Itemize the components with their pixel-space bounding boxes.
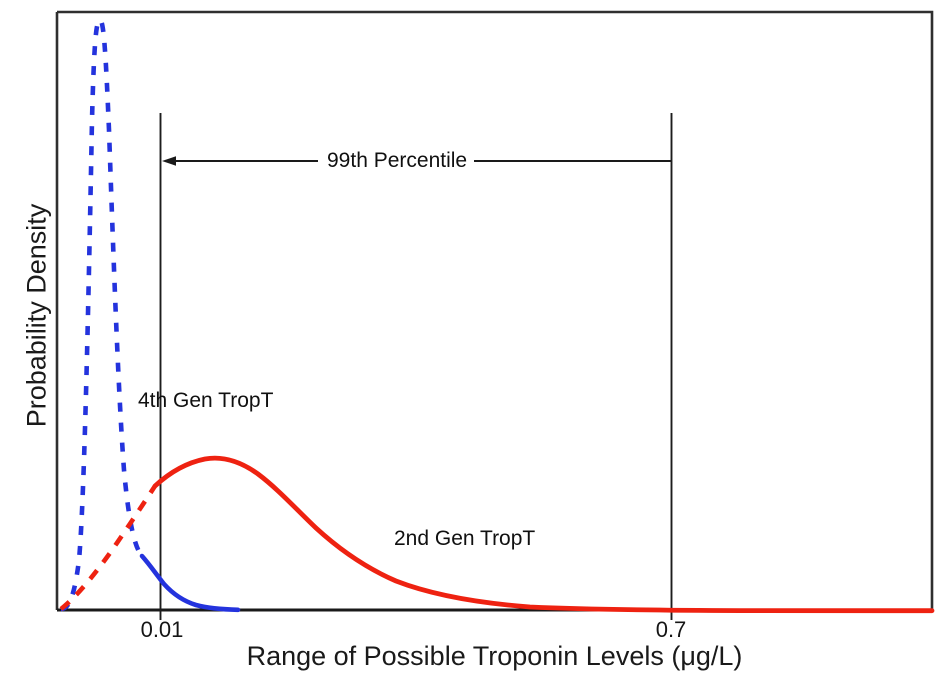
x-tick-label-0-01: 0.01 (112, 617, 212, 643)
x-tick-label-0-7: 0.7 (621, 617, 721, 643)
plot-frame (57, 12, 932, 610)
chart-figure: Probability Density Range of Possible Tr… (0, 0, 944, 679)
series-curve-2nd-gen-solid (155, 458, 932, 611)
annotation-99th-percentile: 99th Percentile (320, 149, 474, 173)
y-axis-label: Probability Density (22, 166, 53, 466)
x-axis-label: Range of Possible Troponin Levels (μg/L) (57, 641, 932, 672)
plot-canvas (0, 0, 944, 679)
series-label-4th-gen-tropt: 4th Gen TropT (138, 389, 273, 413)
series-curve-4th-gen-solid (142, 556, 238, 610)
series-label-2nd-gen-tropt: 2nd Gen TropT (394, 527, 535, 551)
